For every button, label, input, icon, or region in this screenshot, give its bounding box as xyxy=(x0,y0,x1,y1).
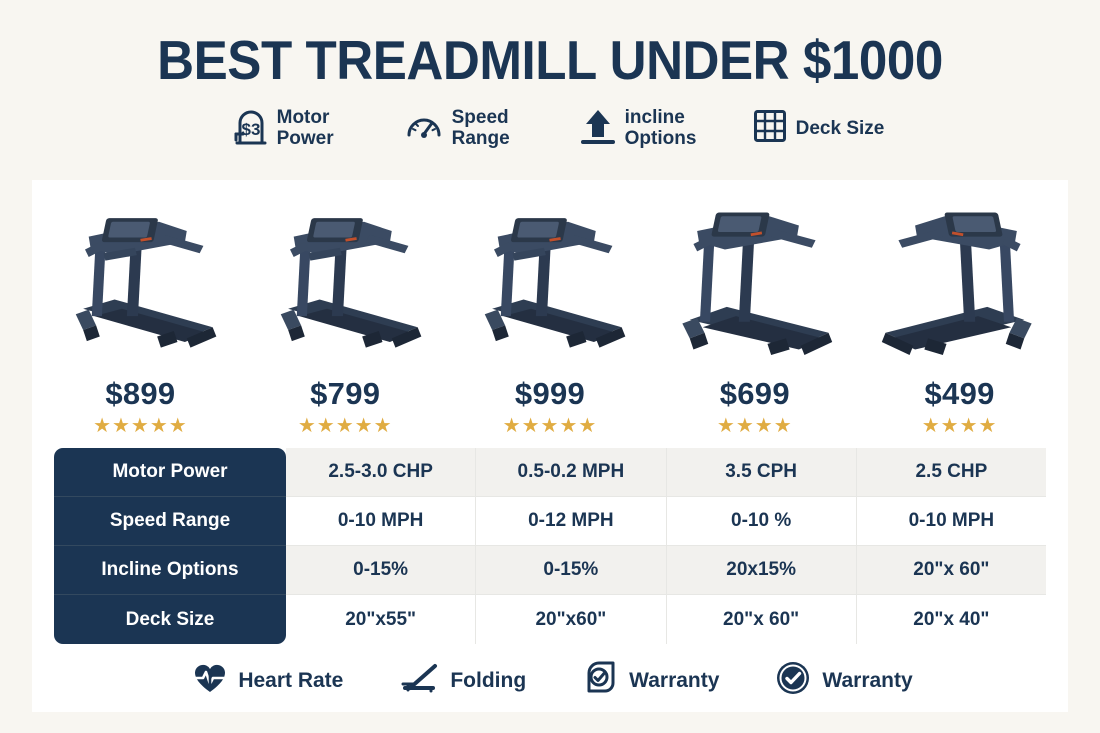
product-column: $699 ★★★★ xyxy=(652,194,857,436)
table-row: Speed Range 0-10 MPH 0-12 MPH 0-10 % 0-1… xyxy=(54,497,1046,546)
row-label: Speed Range xyxy=(54,497,286,546)
page-title: BEST TREADMILL UNDER $1000 xyxy=(39,0,1062,90)
table-cell: 20"x60" xyxy=(476,595,666,644)
product-column: $799 ★★★★★ xyxy=(243,194,448,436)
incline-arrow-icon xyxy=(580,106,616,151)
table-cell: 20"x 40" xyxy=(857,595,1046,644)
legend-item-speed-range: Speed Range xyxy=(405,107,542,150)
table-cell: 0-12 MPH xyxy=(476,497,666,546)
treadmill-illustration xyxy=(38,194,243,366)
star-rating: ★★★★ xyxy=(717,416,793,436)
legend-label: Speed Range xyxy=(452,107,542,150)
star-rating: ★★★★★ xyxy=(298,416,393,436)
svg-text:$3: $3 xyxy=(241,120,260,139)
feature-heart-rate: Heart Rate xyxy=(193,662,343,699)
table-row: Incline Options 0-15% 0-15% 20x15% 20"x … xyxy=(54,546,1046,595)
table-cell: 3.5 CPH xyxy=(667,448,857,497)
treadmill-illustration xyxy=(652,194,857,366)
table-cell: 20x15% xyxy=(667,546,857,595)
legend-item-deck-size: Deck Size xyxy=(753,109,885,148)
treadmill-illustration xyxy=(448,194,653,366)
product-price: $899 xyxy=(105,376,175,412)
warranty-badge-icon xyxy=(582,660,618,701)
infographic-page: BEST TREADMILL UNDER $1000 $3 Motor Powe… xyxy=(0,0,1100,733)
feature-label: Warranty xyxy=(629,669,719,693)
product-price: $999 xyxy=(515,376,585,412)
treadmill-illustration xyxy=(243,194,448,366)
comparison-table: Motor Power 2.5-3.0 CHP 0.5-0.2 MPH 3.5 … xyxy=(54,448,1046,644)
table-row: Deck Size 20"x55" 20"x60" 20"x 60" 20"x … xyxy=(54,595,1046,644)
product-price: $699 xyxy=(720,376,790,412)
table-cell: 2.5-3.0 CHP xyxy=(286,448,476,497)
table-cell: 0-10 MPH xyxy=(857,497,1046,546)
legend-label: Deck Size xyxy=(796,118,885,139)
feature-label: Warranty xyxy=(822,669,912,693)
row-label: Motor Power xyxy=(54,448,286,497)
product-price: $799 xyxy=(310,376,380,412)
speedometer-icon xyxy=(405,107,443,150)
product-column: $499 ★★★★ xyxy=(857,194,1062,436)
legend-item-motor-power: $3 Motor Power xyxy=(234,107,367,150)
folding-icon xyxy=(399,662,439,699)
row-label: Deck Size xyxy=(54,595,286,644)
star-rating: ★★★★★ xyxy=(503,416,598,436)
feature-warranty-check: Warranty xyxy=(775,660,912,701)
table-cell: 2.5 CHP xyxy=(857,448,1046,497)
star-rating: ★★★★ xyxy=(922,416,998,436)
row-values: 20"x55" 20"x60" 20"x 60" 20"x 40" xyxy=(286,595,1046,644)
table-cell: 0-15% xyxy=(476,546,666,595)
row-label: Incline Options xyxy=(54,546,286,595)
product-column: $999 ★★★★★ xyxy=(448,194,653,436)
legend-label: Motor Power xyxy=(277,107,367,150)
product-price: $499 xyxy=(925,376,995,412)
comparison-card: $899 ★★★★★ xyxy=(32,180,1068,712)
star-rating: ★★★★★ xyxy=(93,416,188,436)
table-row: Motor Power 2.5-3.0 CHP 0.5-0.2 MPH 3.5 … xyxy=(54,448,1046,497)
product-column: $899 ★★★★★ xyxy=(38,194,243,436)
table-cell: 20"x 60" xyxy=(857,546,1046,595)
motor-power-icon: $3 xyxy=(234,107,268,150)
feature-warranty-badge: Warranty xyxy=(582,660,719,701)
row-values: 0-10 MPH 0-12 MPH 0-10 % 0-10 MPH xyxy=(286,497,1046,546)
row-values: 0-15% 0-15% 20x15% 20"x 60" xyxy=(286,546,1046,595)
legend-item-incline-options: incline Options xyxy=(580,106,715,151)
feature-row: Heart Rate Folding xyxy=(32,660,1068,701)
warranty-check-circle-icon xyxy=(775,660,811,701)
feature-label: Heart Rate xyxy=(238,669,343,693)
table-cell: 20"x55" xyxy=(286,595,476,644)
table-cell: 0.5-0.2 MPH xyxy=(476,448,666,497)
feature-folding: Folding xyxy=(399,662,526,699)
table-cell: 0-10 MPH xyxy=(286,497,476,546)
treadmill-illustration-mirrored xyxy=(857,194,1062,366)
grid-deck-icon xyxy=(753,109,787,148)
table-cell: 20"x 60" xyxy=(667,595,857,644)
feature-label: Folding xyxy=(450,669,526,693)
row-values: 2.5-3.0 CHP 0.5-0.2 MPH 3.5 CPH 2.5 CHP xyxy=(286,448,1046,497)
table-cell: 0-15% xyxy=(286,546,476,595)
heart-rate-icon xyxy=(193,662,227,699)
legend-label: incline Options xyxy=(625,107,715,150)
product-row: $899 ★★★★★ xyxy=(32,180,1068,436)
legend-row: $3 Motor Power Speed Range xyxy=(0,106,1100,151)
table-cell: 0-10 % xyxy=(667,497,857,546)
